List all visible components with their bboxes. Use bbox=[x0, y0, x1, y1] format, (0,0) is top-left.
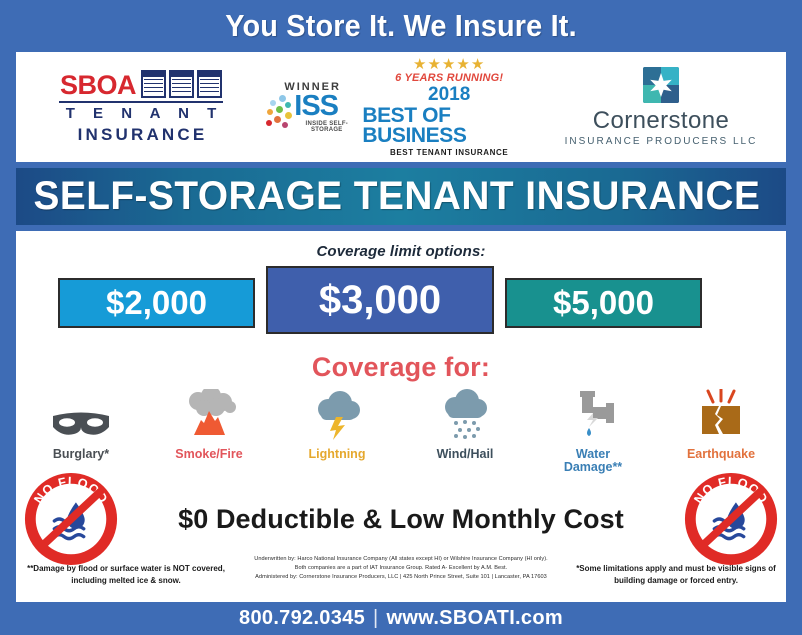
peril-list: Burglary* Smoke/Fire bbox=[16, 389, 786, 474]
coverage-limit-label: Coverage limit options: bbox=[16, 231, 786, 260]
award-year: 2018 bbox=[428, 84, 470, 106]
lightning-cloud-icon bbox=[306, 389, 368, 441]
peril-wind-hail: Wind/Hail bbox=[413, 389, 517, 461]
earthquake-icon bbox=[690, 389, 752, 441]
fine-print-line-3: Administered by: Cornerstone Insurance P… bbox=[216, 573, 586, 582]
fine-print-left: **Damage by flood or surface water is NO… bbox=[26, 563, 226, 587]
storage-doors-icon bbox=[141, 70, 222, 98]
headline: You Store It. We Insure It. bbox=[28, 0, 774, 52]
cornerstone-pinwheel-icon bbox=[643, 67, 679, 103]
sboa-divider bbox=[59, 101, 224, 103]
fine-print-center: Underwritten by: Harco National Insuranc… bbox=[216, 555, 586, 583]
deductible-text: $0 Deductible & Low Monthly Cost bbox=[16, 504, 786, 535]
burglar-mask-icon bbox=[50, 389, 112, 441]
peril-burglary: Burglary* bbox=[29, 389, 133, 461]
peril-water-damage: Water Damage** bbox=[541, 389, 645, 474]
peril-label-earthquake: Earthquake bbox=[687, 448, 755, 461]
award-category-label: BEST TENANT INSURANCE bbox=[390, 148, 508, 157]
peril-earthquake: Earthquake bbox=[669, 389, 773, 461]
logo-panel: SBOA T E N A N T INSURANCE WINNER bbox=[16, 52, 786, 162]
sboa-tenant-label: T E N A N T bbox=[59, 105, 224, 122]
iss-award-badge: WINNER bbox=[266, 52, 536, 162]
peril-label-water-damage: Water Damage** bbox=[564, 448, 622, 474]
coverage-option-2000[interactable]: $2,000 bbox=[58, 278, 255, 328]
sboa-wordmark: SBOA bbox=[60, 72, 136, 98]
footer-contact: 800.792.0345 | www.SBOATI.com bbox=[0, 602, 802, 635]
footer-separator: | bbox=[373, 607, 379, 630]
peril-label-wind-hail: Wind/Hail bbox=[437, 448, 494, 461]
coverage-limit-options: $2,000 $3,000 $5,000 bbox=[16, 266, 786, 336]
coverage-option-3000[interactable]: $3,000 bbox=[266, 266, 494, 334]
fire-smoke-icon bbox=[178, 389, 240, 441]
best-of-business-label: BEST OF BUSINESS bbox=[362, 106, 536, 146]
peril-lightning: Lightning bbox=[285, 389, 389, 461]
phone-number[interactable]: 800.792.0345 bbox=[239, 607, 365, 630]
flyer-root: You Store It. We Insure It. SBOA T E N A… bbox=[0, 0, 802, 635]
iss-dots-icon bbox=[266, 95, 292, 131]
stars-icon: ★★★★★ bbox=[413, 58, 485, 71]
cornerstone-logo: Cornerstone INSURANCE PRODUCERS LLC bbox=[536, 52, 786, 162]
cornerstone-name: Cornerstone bbox=[593, 107, 729, 135]
fine-print: **Damage by flood or surface water is NO… bbox=[16, 553, 786, 601]
coverage-option-5000[interactable]: $5,000 bbox=[505, 278, 702, 328]
peril-label-smoke-fire: Smoke/Fire bbox=[175, 448, 242, 461]
peril-label-lightning: Lightning bbox=[309, 448, 366, 461]
content-panel: Coverage limit options: $2,000 $3,000 $5… bbox=[16, 231, 786, 602]
sboa-logo: SBOA T E N A N T INSURANCE bbox=[16, 52, 266, 162]
iss-sub-label: INSIDE SELF-STORAGE bbox=[294, 121, 359, 133]
years-running-label: 6 YEARS RUNNING! bbox=[395, 72, 503, 84]
fine-print-line-2: Both companies are a part of IAT Insuran… bbox=[216, 564, 586, 573]
iss-wordmark: ISS bbox=[294, 90, 338, 122]
broken-pipe-icon bbox=[562, 389, 624, 441]
website-link[interactable]: www.SBOATI.com bbox=[387, 607, 563, 630]
fine-print-line-1: Underwritten by: Harco National Insuranc… bbox=[216, 555, 586, 564]
page-title: SELF-STORAGE TENANT INSURANCE bbox=[16, 174, 760, 219]
fine-print-right: *Some limitations apply and must be visi… bbox=[576, 563, 776, 587]
main-title-bar: SELF-STORAGE TENANT INSURANCE bbox=[16, 168, 786, 225]
coverage-for-heading: Coverage for: bbox=[16, 352, 786, 383]
hail-cloud-icon bbox=[434, 389, 496, 441]
cornerstone-sub: INSURANCE PRODUCERS LLC bbox=[565, 136, 758, 147]
peril-label-burglary: Burglary* bbox=[53, 448, 109, 461]
sboa-insurance-label: INSURANCE bbox=[75, 125, 208, 145]
peril-smoke-fire: Smoke/Fire bbox=[157, 389, 261, 461]
